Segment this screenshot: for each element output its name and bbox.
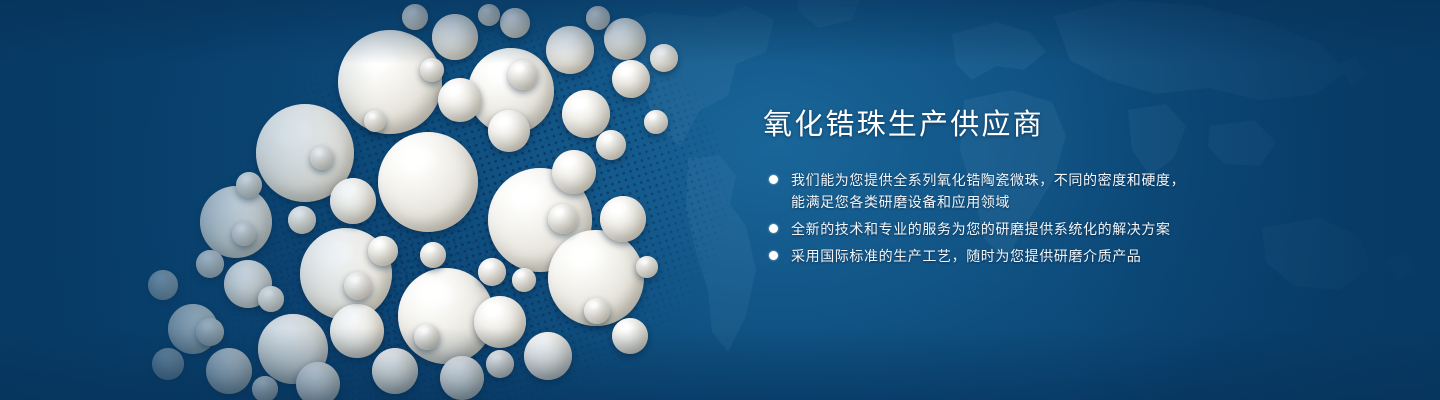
filled-circle-bullet-icon	[769, 251, 778, 260]
banner-copy: 氧化锆珠生产供应商 我们能为您提供全系列氧化锆陶瓷微珠，不同的密度和硬度， 能满…	[763, 108, 1403, 272]
bullet-line: 能满足您各类研磨设备和应用领域	[791, 191, 1403, 213]
feature-bullet-item: 全新的技术和专业的服务为您的研磨提供系统化的解决方案	[763, 218, 1403, 240]
feature-bullet-item: 采用国际标准的生产工艺，随时为您提供研磨介质产品	[763, 245, 1403, 267]
banner-headline: 氧化锆珠生产供应商	[763, 108, 1403, 143]
bullet-line: 我们能为您提供全系列氧化锆陶瓷微珠，不同的密度和硬度，	[791, 169, 1403, 191]
bullet-line: 采用国际标准的生产工艺，随时为您提供研磨介质产品	[791, 245, 1403, 267]
bullet-line: 全新的技术和专业的服务为您的研磨提供系统化的解决方案	[791, 218, 1403, 240]
filled-circle-bullet-icon	[769, 224, 778, 233]
feature-bullet-item: 我们能为您提供全系列氧化锆陶瓷微珠，不同的密度和硬度， 能满足您各类研磨设备和应…	[763, 169, 1403, 213]
hero-banner: 氧化锆珠生产供应商 我们能为您提供全系列氧化锆陶瓷微珠，不同的密度和硬度， 能满…	[0, 0, 1440, 400]
feature-bullet-list: 我们能为您提供全系列氧化锆陶瓷微珠，不同的密度和硬度， 能满足您各类研磨设备和应…	[763, 169, 1403, 267]
filled-circle-bullet-icon	[769, 175, 778, 184]
